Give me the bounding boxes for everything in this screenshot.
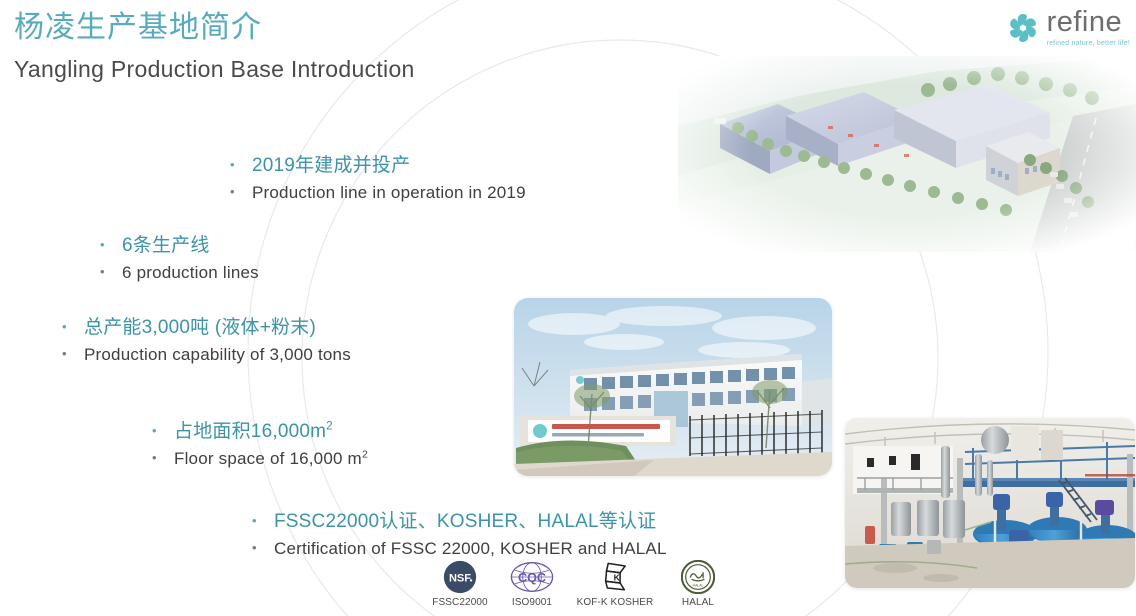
bullet-text-cn: FSSC22000认证、KOSHER、HALAL等认证 bbox=[274, 508, 656, 536]
photo-aerial-render bbox=[678, 56, 1136, 252]
bullet-row-cn: • 总产能3,000吨 (液体+粉末) bbox=[62, 314, 351, 342]
kofk-kosher-badge-icon: K bbox=[599, 560, 631, 594]
bullet-marker-icon: • bbox=[252, 541, 274, 554]
certification-nsf: NSF FSSC22000 bbox=[424, 560, 496, 609]
bullet-marker-icon: • bbox=[252, 514, 274, 527]
svg-text:NSF: NSF bbox=[449, 572, 471, 584]
bullet-list: • 2019年建成并投产 • Production line in operat… bbox=[0, 0, 720, 616]
certification-cqc: CQC ISO9001 bbox=[496, 560, 568, 609]
bullet-text-cn: 2019年建成并投产 bbox=[252, 152, 410, 180]
bullet-text-en: 6 production lines bbox=[122, 260, 259, 285]
page-header: 杨凌生产基地简介 Yangling Production Base Introd… bbox=[14, 8, 415, 86]
refine-flower-icon bbox=[1006, 11, 1040, 45]
page-title-en: Yangling Production Base Introduction bbox=[14, 52, 415, 86]
bullet-marker-icon: • bbox=[152, 424, 174, 437]
bullet-row-en: • Floor space of 16,000 m2 bbox=[152, 446, 368, 471]
bullet-text-en: Certification of FSSC 22000, KOSHER and … bbox=[274, 536, 667, 561]
logo-tagline: refined nature, better life! bbox=[1047, 39, 1130, 49]
bullet-row-cn: • 6条生产线 bbox=[100, 232, 259, 260]
bullet-marker-icon: • bbox=[62, 320, 84, 333]
bullet-group-year-built: • 2019年建成并投产 • Production line in operat… bbox=[230, 152, 526, 205]
bullet-group-production-lines: • 6条生产线 • 6 production lines bbox=[100, 232, 259, 285]
certification-label: KOF-K KOSHER bbox=[577, 597, 654, 609]
bullet-row-en: • 6 production lines bbox=[100, 260, 259, 285]
certification-halal: HALAL HALAL bbox=[662, 560, 734, 609]
bullet-row-en: • Production line in operation in 2019 bbox=[230, 180, 526, 205]
certification-label: HALAL bbox=[682, 597, 714, 609]
bullet-marker-icon: • bbox=[62, 347, 84, 360]
bullet-row-en: • Production capability of 3,000 tons bbox=[62, 342, 351, 367]
slide: 杨凌生产基地简介 Yangling Production Base Introd… bbox=[0, 0, 1136, 616]
page-title-cn: 杨凌生产基地简介 bbox=[14, 8, 415, 48]
bullet-group-floor-space: • 占地面积16,000m2 • Floor space of 16,000 m… bbox=[152, 418, 368, 471]
bullet-marker-icon: • bbox=[230, 185, 252, 198]
certification-label: ISO9001 bbox=[512, 597, 552, 609]
cqc-badge-icon: CQC bbox=[510, 560, 554, 594]
svg-text:CQC: CQC bbox=[518, 571, 546, 585]
bullet-text-cn: 占地面积16,000m2 bbox=[174, 418, 333, 446]
logo-wordmark: refine bbox=[1047, 8, 1130, 37]
bullet-superscript-en: 2 bbox=[362, 448, 368, 460]
certification-badges: NSF FSSC22000 CQC ISO9001 bbox=[424, 560, 734, 609]
bullet-row-cn: • 2019年建成并投产 bbox=[230, 152, 526, 180]
bullet-text-cn: 总产能3,000吨 (液体+粉末) bbox=[84, 314, 316, 342]
bullet-marker-icon: • bbox=[152, 451, 174, 464]
bullet-group-capacity: • 总产能3,000吨 (液体+粉末) • Production capabil… bbox=[62, 314, 351, 367]
bullet-text-en: Production line in operation in 2019 bbox=[252, 180, 526, 205]
certification-kofk: K KOF-K KOSHER bbox=[568, 560, 662, 609]
bullet-row-cn: • FSSC22000认证、KOSHER、HALAL等认证 bbox=[252, 508, 667, 536]
bullet-marker-icon: • bbox=[100, 238, 122, 251]
bullet-text-cn-main: 占地面积16,000m bbox=[174, 421, 326, 442]
halal-badge-icon: HALAL bbox=[681, 560, 715, 594]
bullet-group-certification: • FSSC22000认证、KOSHER、HALAL等认证 • Certific… bbox=[252, 508, 667, 561]
bullet-text-en: Floor space of 16,000 m2 bbox=[174, 446, 368, 471]
bullet-text-en: Production capability of 3,000 tons bbox=[84, 342, 351, 367]
bullet-marker-icon: • bbox=[100, 265, 122, 278]
bullet-text-cn: 6条生产线 bbox=[122, 232, 210, 260]
bullet-text-en-main: Floor space of 16,000 m bbox=[174, 449, 362, 468]
svg-text:K: K bbox=[614, 572, 621, 582]
bullet-row-cn: • 占地面积16,000m2 bbox=[152, 418, 368, 446]
bullet-superscript-cn: 2 bbox=[326, 420, 333, 433]
nsf-badge-icon: NSF bbox=[443, 560, 477, 594]
svg-text:HALAL: HALAL bbox=[693, 583, 704, 587]
bullet-row-en: • Certification of FSSC 22000, KOSHER an… bbox=[252, 536, 667, 561]
photo-plant-interior bbox=[845, 418, 1135, 588]
brand-logo[interactable]: refine refined nature, better life! bbox=[1006, 6, 1130, 49]
certification-label: FSSC22000 bbox=[432, 597, 487, 609]
bullet-marker-icon: • bbox=[230, 158, 252, 171]
